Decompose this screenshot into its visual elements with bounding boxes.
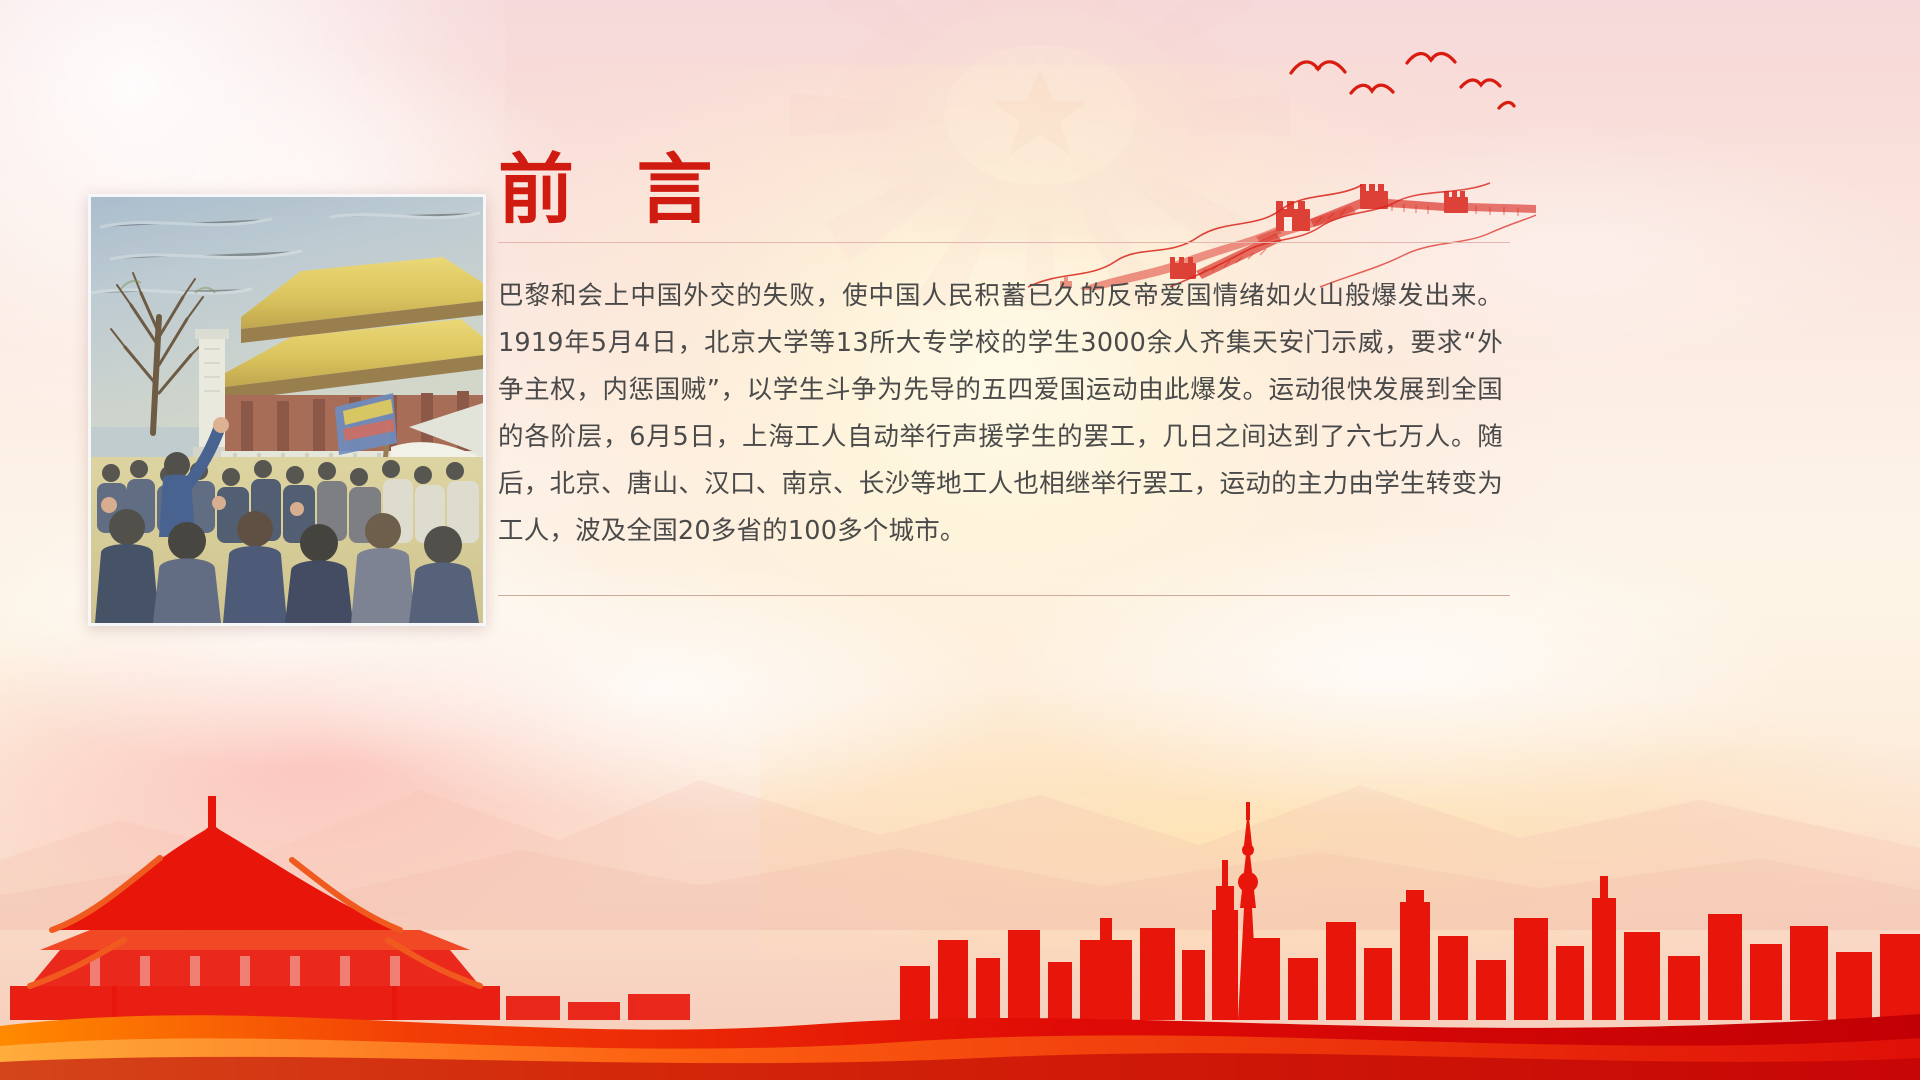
page-title: 前 言 [498,150,1510,230]
slide-root: 京 北 [0,0,1920,1080]
may-fourth-movement-painting: 京 北 [88,194,486,626]
body-paragraph: 巴黎和会上中国外交的失败，使中国人民积蓄已久的反帝爱国情绪如火山般爆发出来。19… [498,273,1503,555]
bottom-divider [498,595,1510,596]
content-block: 前 言 巴黎和会上中国外交的失败，使中国人民积蓄已久的反帝爱国情绪如火山般爆发出… [498,150,1510,596]
title-divider [498,242,1510,243]
flying-birds-icon [1285,45,1520,125]
bottom-red-ribbon [0,988,1920,1080]
city-skyline-icon [0,790,1920,1020]
content-spacer [498,555,1510,581]
